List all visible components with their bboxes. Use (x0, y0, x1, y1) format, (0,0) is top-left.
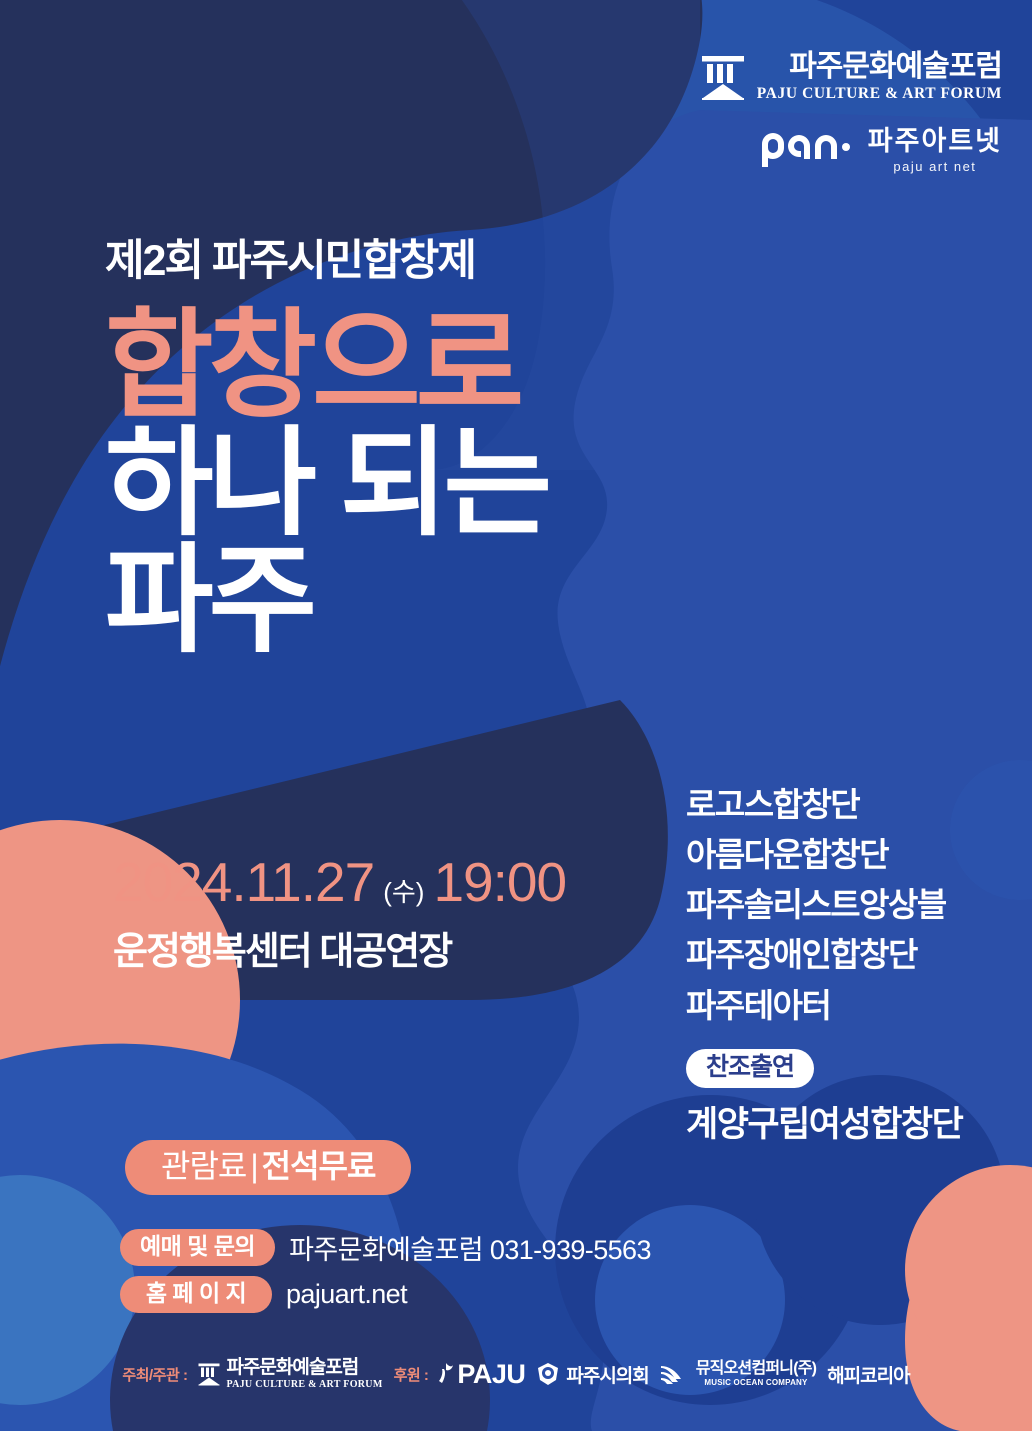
footer-sponsor-moc-en: MUSIC OCEAN COMPANY (696, 1379, 816, 1387)
footer-credits: 주최/주관 : 파주문화예술포럼 PAJU CULTURE & ART FORU… (0, 1358, 1032, 1390)
footer-sponsor-moc: 뮤직오션컴퍼니(주) MUSIC OCEAN COMPANY (660, 1361, 816, 1387)
schedule-block: 2024.11.27 (수) 19:00 운정행복센터 대공연장 (113, 855, 566, 975)
logo-pcaf-text: 파주문화예술포럼 PAJU CULTURE & ART FORUM (757, 52, 1002, 102)
admission-badge: 관람료|전석무료 (125, 1140, 411, 1195)
footer-host-en: PAJU CULTURE & ART FORUM (226, 1380, 382, 1390)
logo-pan-kr: 파주아트넷 (868, 128, 1002, 155)
pan-wordmark-icon (758, 130, 854, 170)
contact-block: 예매 및 문의 파주문화예술포럼 031-939-5563 홈 페 이 지 pa… (120, 1228, 651, 1322)
admission-separator: | (246, 1148, 261, 1184)
logo-pcaf-en: PAJU CULTURE & ART FORUM (757, 86, 1002, 102)
contact-row: 홈 페 이 지 pajuart.net (120, 1276, 651, 1313)
choir-list: 로고스합창단 아름다운합창단 파주솔리스트앙상블 파주장애인합창단 파주테아터 … (686, 780, 962, 1147)
paju-city-icon (439, 1363, 453, 1385)
poster-root: 파주문화예술포럼 PAJU CULTURE & ART FORUM 파주아트넷 … (0, 0, 1032, 1431)
logo-pcaf-kr: 파주문화예술포럼 (757, 52, 1002, 82)
footer-sponsor-happykorea: 해피코리아 (827, 1361, 909, 1388)
event-date: 2024.11.27 (113, 855, 374, 910)
pillar-icon (198, 1362, 220, 1386)
footer-host-logo: 파주문화예술포럼 PAJU CULTURE & ART FORUM (198, 1358, 382, 1390)
council-emblem-icon (536, 1362, 560, 1386)
footer-sponsor-council: 파주시의회 (536, 1361, 648, 1388)
choir-item: 파주장애인합창단 (686, 930, 962, 980)
footer-sponsor-paju-text: PAJU (457, 1361, 525, 1388)
headline-line-3: 파주 (105, 544, 547, 660)
footer-sponsor-moc-text: 뮤직오션컴퍼니(주) MUSIC OCEAN COMPANY (696, 1361, 816, 1387)
choir-item: 아름다운합창단 (686, 830, 962, 880)
footer-sponsor-council-text: 파주시의회 (566, 1361, 648, 1388)
footer-host-kr: 파주문화예술포럼 (226, 1358, 382, 1377)
pillar-icon (701, 54, 745, 100)
logo-paju-art-net: 파주아트넷 paju art net (701, 128, 1002, 173)
logo-paju-culture-art-forum: 파주문화예술포럼 PAJU CULTURE & ART FORUM (701, 52, 1002, 102)
admission-value: 전석무료 (262, 1148, 376, 1184)
logo-pan-text: 파주아트넷 paju art net (868, 128, 1002, 173)
logo-group: 파주문화예술포럼 PAJU CULTURE & ART FORUM 파주아트넷 … (701, 52, 1002, 173)
headline-line-1: 합창으로 (105, 309, 547, 425)
footer-sponsor-label: 후원 : (394, 1364, 429, 1385)
guest-choir-name: 계양구립여성합창단 (686, 1096, 962, 1147)
event-time: 19:00 (433, 855, 566, 910)
admission-label: 관람료 (161, 1148, 246, 1184)
event-kicker: 제2회 파주시민합창제 (105, 240, 547, 283)
contact-tag-booking: 예매 및 문의 (120, 1229, 275, 1266)
footer-sponsor-moc-kr: 뮤직오션컴퍼니(주) (696, 1361, 816, 1377)
poster-content: 파주문화예술포럼 PAJU CULTURE & ART FORUM 파주아트넷 … (0, 0, 1032, 1431)
footer-host-label: 주최/주관 : (122, 1364, 187, 1385)
guest-badge: 찬조출연 (686, 1049, 814, 1088)
footer-sponsor-paju: PAJU (439, 1361, 525, 1388)
headline-block: 제2회 파주시민합창제 합창으로 하나 되는 파주 (105, 240, 547, 660)
guest-performer-block: 찬조출연 계양구립여성합창단 (686, 1049, 962, 1147)
choir-item: 로고스합창단 (686, 780, 962, 830)
choir-item: 파주테아터 (686, 981, 962, 1031)
event-venue: 운정행복센터 대공연장 (113, 920, 566, 975)
contact-tag-homepage: 홈 페 이 지 (120, 1276, 272, 1313)
choir-item: 파주솔리스트앙상블 (686, 880, 962, 930)
event-day-of-week: (수) (383, 879, 424, 905)
date-time-row: 2024.11.27 (수) 19:00 (113, 855, 566, 910)
headline-line-2: 하나 되는 (105, 427, 547, 543)
contact-row: 예매 및 문의 파주문화예술포럼 031-939-5563 (120, 1228, 651, 1267)
footer-host-text: 파주문화예술포럼 PAJU CULTURE & ART FORUM (226, 1358, 382, 1390)
logo-pan-en: paju art net (868, 160, 1002, 173)
contact-value-homepage[interactable]: pajuart.net (286, 1279, 407, 1310)
contact-value-booking: 파주문화예술포럼 031-939-5563 (289, 1228, 651, 1267)
wave-icon (660, 1362, 690, 1386)
